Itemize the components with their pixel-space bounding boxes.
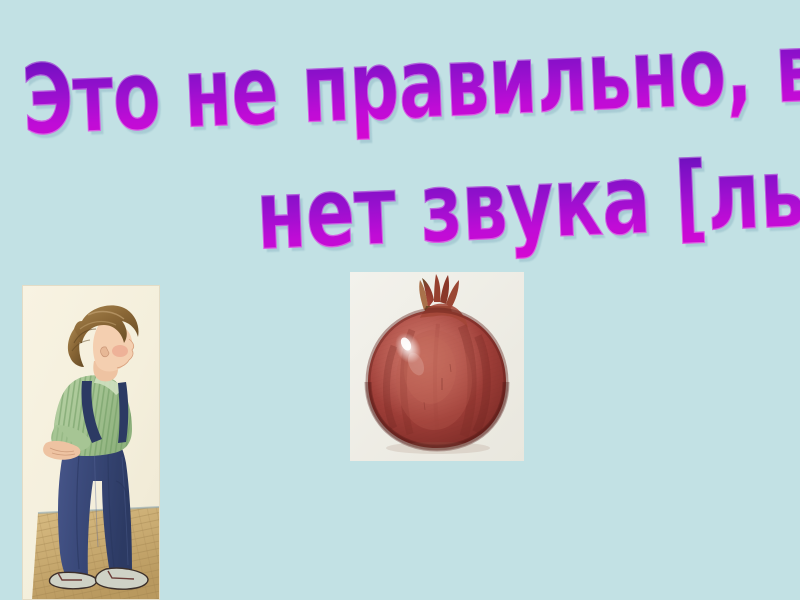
title-line-1: Это не правильно, в слове гранат Это не … xyxy=(21,0,800,126)
pomegranate-illustration-artwork xyxy=(350,272,524,461)
boy-illustration xyxy=(22,285,160,600)
title-line-2: нет звука [ль] нет звука [ль] xyxy=(255,147,800,241)
slide-canvas: Это не правильно, в слове гранат Это не … xyxy=(0,0,800,600)
title-line-1-text: Это не правильно, в слове гранат xyxy=(20,0,800,156)
title-line-2-text: нет звука [ль] xyxy=(254,135,800,271)
boy-suspender-right xyxy=(118,382,128,443)
pomegranate-illustration xyxy=(350,272,524,461)
boy-illustration-artwork xyxy=(22,285,160,600)
